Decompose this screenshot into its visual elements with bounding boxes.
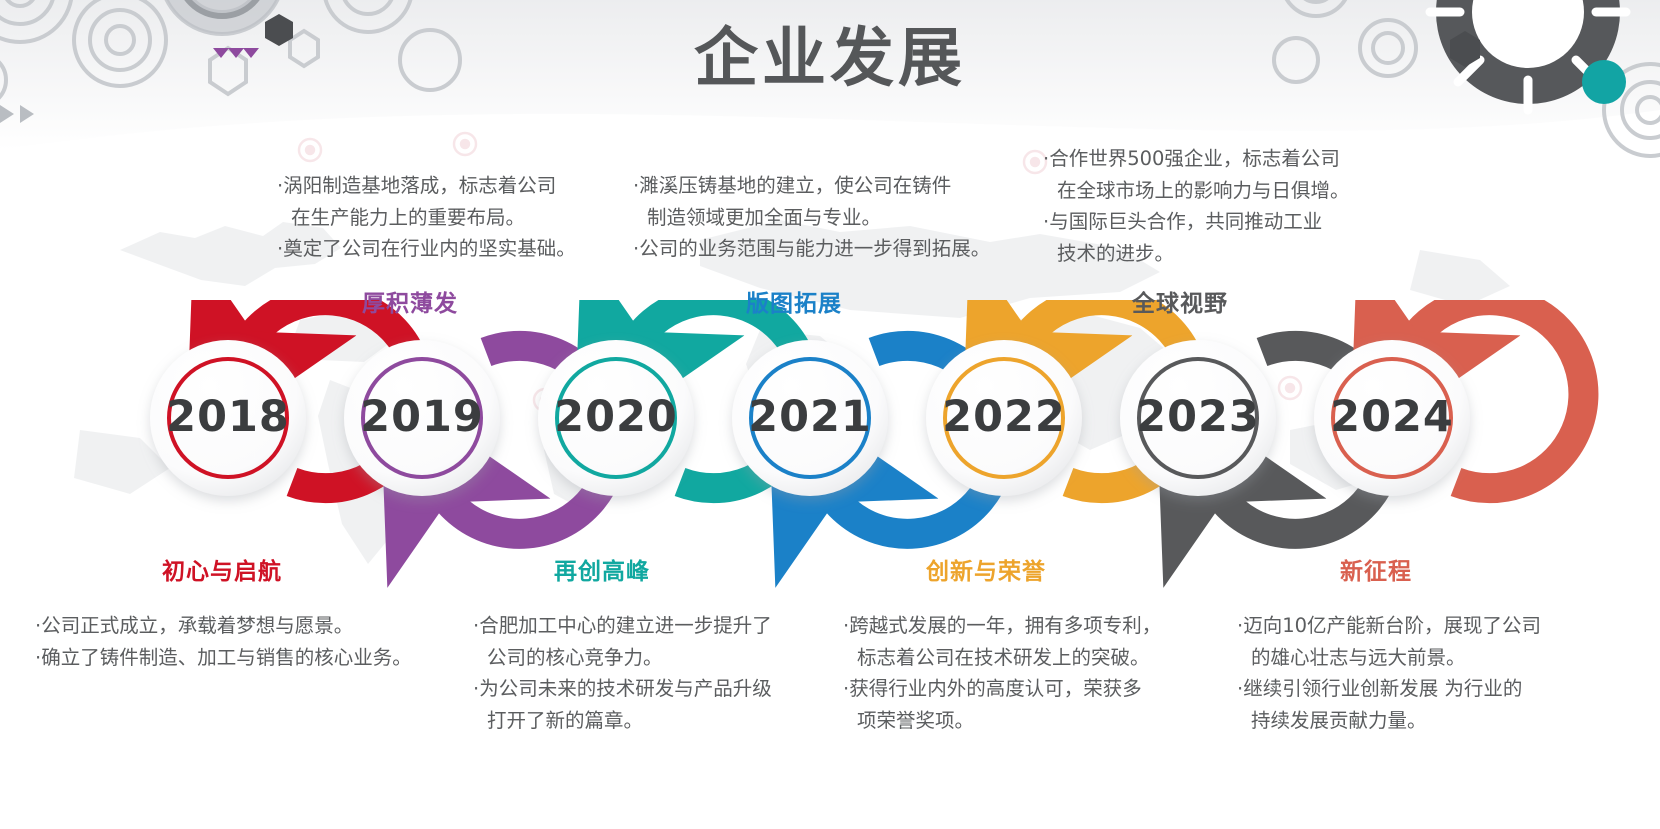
year-label-2018: 2018 [148,392,308,442]
detail-item: ·公司的业务范围与能力进一步得到拓展。 [618,233,990,265]
detail-item: ·为公司未来的技术研发与产品升级打开了新的篇章。 [458,673,772,736]
detail-item: ·公司正式成立，承载着梦想与愿景。 [20,610,412,642]
detail-block-2021: ·濉溪压铸基地的建立，使公司在铸件制造领域更加全面与专业。 ·公司的业务范围与能… [618,170,990,265]
detail-item: ·濉溪压铸基地的建立，使公司在铸件制造领域更加全面与专业。 [618,170,990,233]
phase-label-2023: 全球视野 [1050,284,1310,318]
year-label-2021: 2021 [730,392,890,442]
detail-item: ·确立了铸件制造、加工与销售的核心业务。 [20,642,412,674]
year-label-2023: 2023 [1118,392,1278,442]
detail-item: ·与国际巨头合作，共同推动工业技术的进步。 [1028,206,1350,269]
detail-item: ·跨越式发展的一年，拥有多项专利，标志着公司在技术研发上的突破。 [828,610,1161,673]
slide-canvas: 企业发展 [0,0,1660,829]
year-label-2024: 2024 [1312,392,1472,442]
detail-item: ·合作世界500强企业，标志着公司在全球市场上的影响力与日俱增。 [1028,143,1350,206]
detail-block-2018: ·公司正式成立，承载着梦想与愿景。 ·确立了铸件制造、加工与销售的核心业务。 [20,610,412,673]
year-label-2019: 2019 [342,392,502,442]
detail-item: ·合肥加工中心的建立进一步提升了公司的核心竞争力。 [458,610,772,673]
detail-block-2024: ·迈向10亿产能新台阶，展现了公司的雄心壮志与远大前景。 ·继续引领行业创新发展… [1222,610,1541,736]
detail-item: ·迈向10亿产能新台阶，展现了公司的雄心壮志与远大前景。 [1222,610,1541,673]
detail-block-2019: ·涡阳制造基地落成，标志着公司在生产能力上的重要布局。 ·奠定了公司在行业内的坚… [262,170,576,265]
detail-block-2020: ·合肥加工中心的建立进一步提升了公司的核心竞争力。 ·为公司未来的技术研发与产品… [458,610,772,736]
phase-label-2019: 厚积薄发 [280,284,540,318]
detail-block-2022: ·跨越式发展的一年，拥有多项专利，标志着公司在技术研发上的突破。 ·获得行业内外… [828,610,1161,736]
detail-block-2023: ·合作世界500强企业，标志着公司在全球市场上的影响力与日俱增。 ·与国际巨头合… [1028,143,1350,269]
detail-item: ·奠定了公司在行业内的坚实基础。 [262,233,576,265]
year-label-2022: 2022 [924,392,1084,442]
detail-item: ·涡阳制造基地落成，标志着公司在生产能力上的重要布局。 [262,170,576,233]
phase-label-2018: 初心与启航 [92,552,352,586]
phase-label-2020: 再创高峰 [472,552,732,586]
year-label-2020: 2020 [536,392,696,442]
page-title: 企业发展 [0,26,1660,93]
phase-label-2022: 创新与荣誉 [856,552,1116,586]
timeline-graphic [0,300,1660,590]
phase-label-2021: 版图拓展 [664,284,924,318]
phase-label-2024: 新征程 [1246,552,1506,586]
detail-item: ·获得行业内外的高度认可，荣获多项荣誉奖项。 [828,673,1161,736]
detail-item: ·继续引领行业创新发展 为行业的持续发展贡献力量。 [1222,673,1541,736]
